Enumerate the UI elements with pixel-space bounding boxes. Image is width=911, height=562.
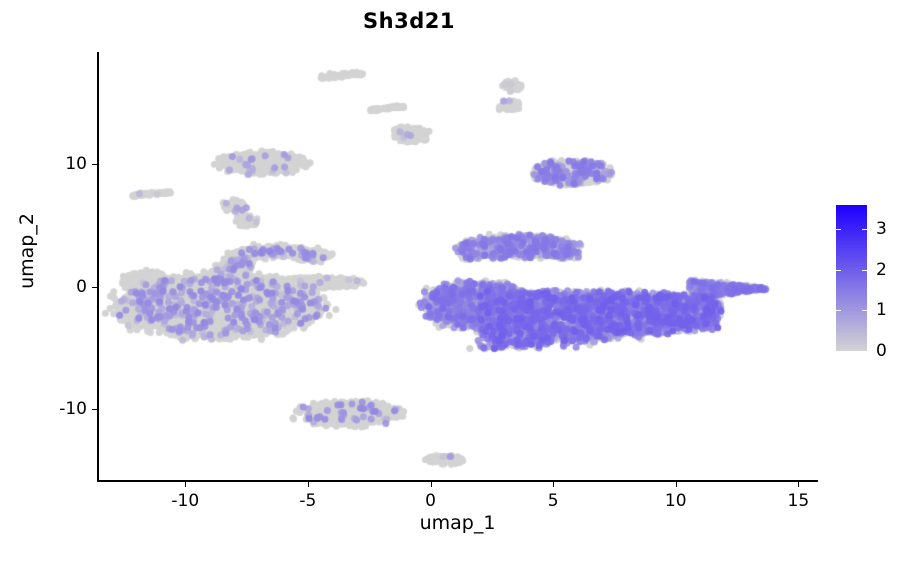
x-tick-mark [553,482,554,487]
x-tick-label: 5 [548,491,559,511]
x-tick-label: 0 [425,491,436,511]
umap-feature-plot-figure: Sh3d21 -10-5051015 100-10 umap_1 umap_2 … [0,0,911,562]
axes-frame [97,52,818,482]
colorbar-tick-label: 3 [876,219,887,239]
x-tick-label: 10 [665,491,687,511]
x-tick-label: 15 [788,491,810,511]
y-tick-label: 10 [45,154,87,174]
y-tick-mark [92,409,97,410]
x-tick-mark [431,482,432,487]
x-axis-label: umap_1 [97,512,818,534]
x-tick-label: -5 [299,491,316,511]
x-tick-mark [798,482,799,487]
colorbar-tick-mark [862,229,867,230]
colorbar-tick-mark [836,351,841,352]
y-tick-mark [92,164,97,165]
colorbar-tick-mark [862,310,867,311]
colorbar-tick-label: 1 [876,300,887,320]
colorbar-tick-mark [836,229,841,230]
plot-axes-area: -10-5051015 100-10 [97,52,818,482]
colorbar-tick-mark [862,270,867,271]
y-tick-label: -10 [45,399,87,419]
colorbar-gradient [836,205,867,351]
colorbar-tick-label: 0 [876,341,887,361]
colorbar-tick-mark [862,351,867,352]
x-tick-mark [308,482,309,487]
y-tick-mark [92,287,97,288]
colorbar-tick-mark [836,270,841,271]
colorbar-tick-mark [836,310,841,311]
x-tick-mark [676,482,677,487]
colorbar-legend: 0123 [836,205,867,351]
x-tick-label: -10 [171,491,199,511]
y-axis-label: umap_2 [16,141,38,361]
colorbar-tick-label: 2 [876,260,887,280]
y-tick-label: 0 [45,277,87,297]
x-tick-mark [185,482,186,487]
page-title: Sh3d21 [0,9,818,33]
